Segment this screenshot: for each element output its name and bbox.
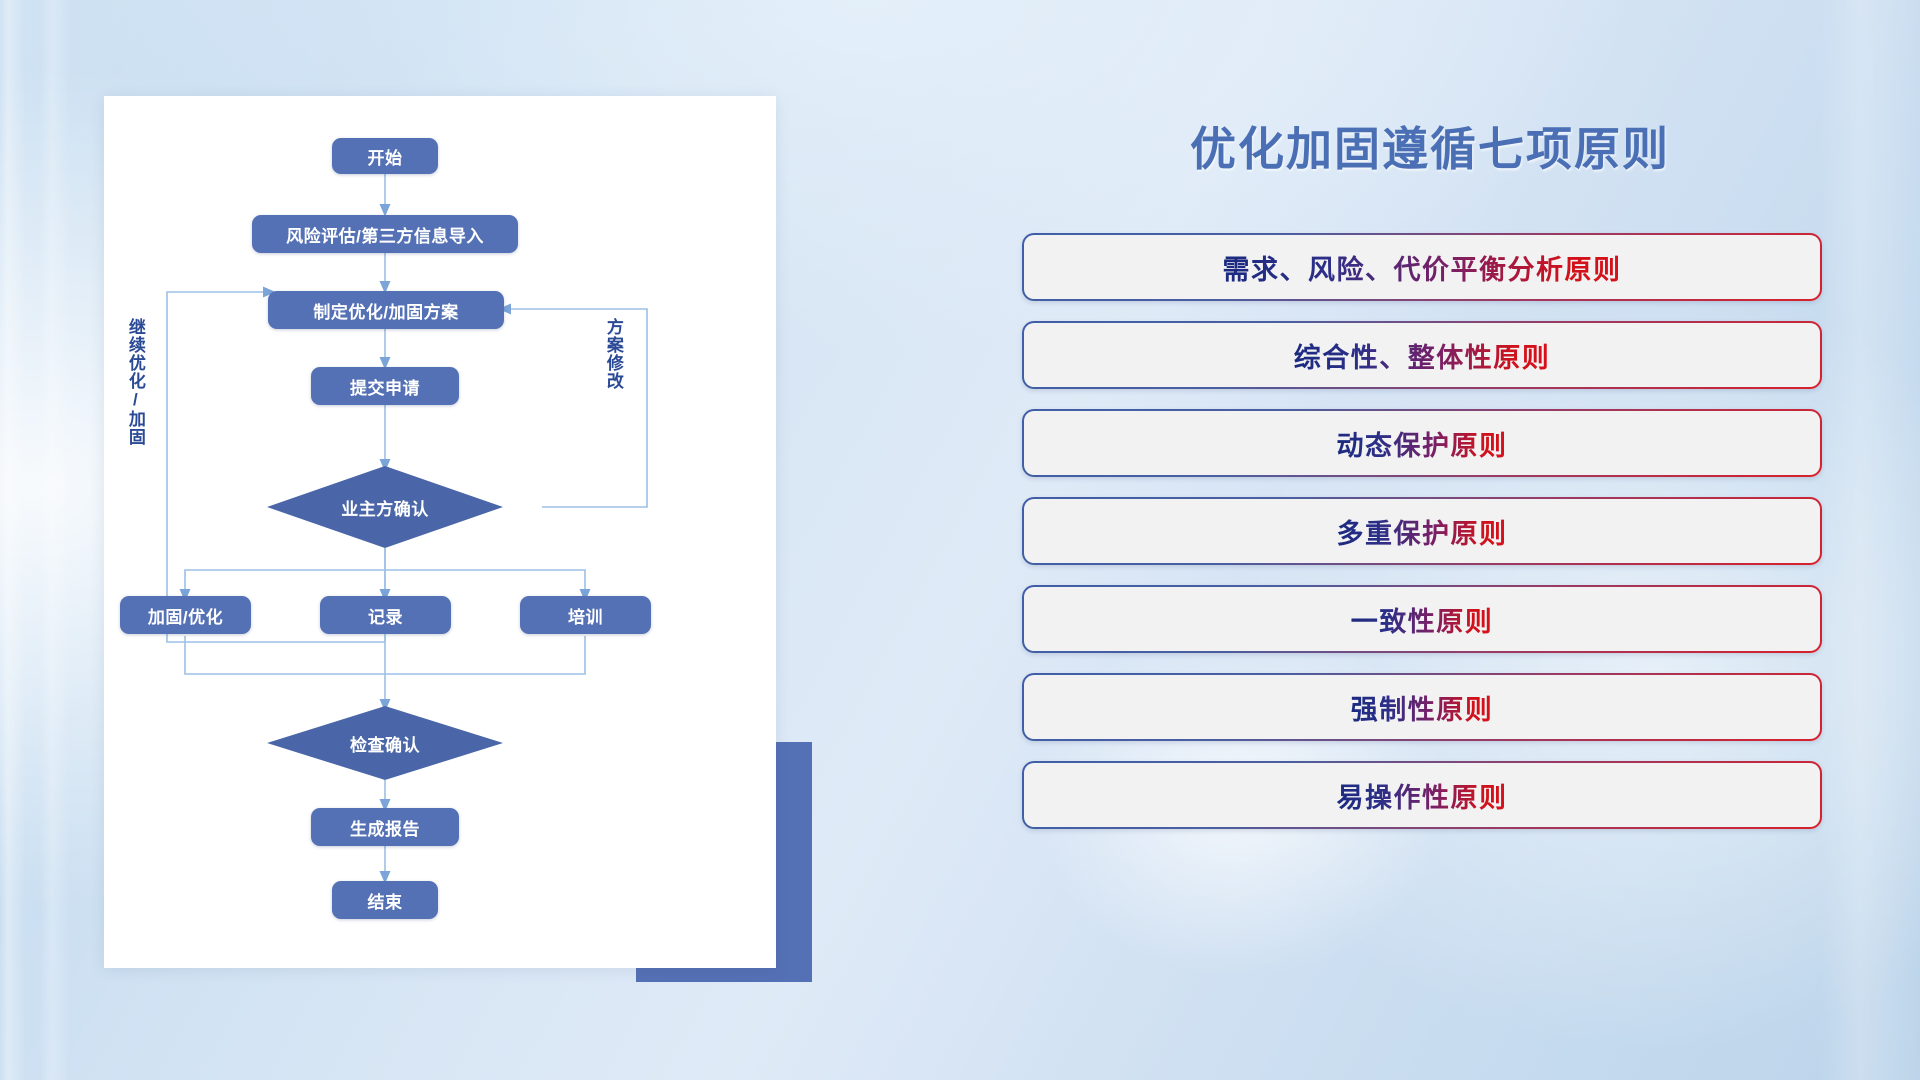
principle-pill-face: 综合性、整体性原则 [1024,323,1820,387]
principle-pill-border: 强制性原则 [1022,673,1822,741]
flow-node-plan-label: 制定优化/加固方案 [313,298,458,323]
principle-label-5: 一致性原则 [1351,600,1494,639]
flow-node-record[interactable]: 记录 [320,596,451,634]
flow-node-submit[interactable]: 提交申请 [311,367,459,405]
flow-node-check-confirm[interactable]: 检查确认 [267,706,503,780]
principle-item-4[interactable]: 多重保护原则 [1022,497,1822,565]
flow-node-start-label: 开始 [368,144,403,169]
flow-node-report-label: 生成报告 [350,815,420,840]
principle-item-2[interactable]: 综合性、整体性原则 [1022,321,1822,389]
principle-label-2: 综合性、整体性原则 [1294,336,1551,375]
principle-pill-border: 易操作性原则 [1022,761,1822,829]
principle-label-7: 易操作性原则 [1337,776,1508,815]
principle-pill-border: 需求、风险、代价平衡分析原则 [1022,233,1822,301]
flowchart-card: 开始 风险评估/第三方信息导入 制定优化/加固方案 提交申请 业主方确认 加固/… [104,96,776,968]
principle-item-7[interactable]: 易操作性原则 [1022,761,1822,829]
flow-node-report[interactable]: 生成报告 [311,808,459,846]
principle-pill-border: 综合性、整体性原则 [1022,321,1822,389]
principle-label-6: 强制性原则 [1351,688,1494,727]
principle-pill-border: 动态保护原则 [1022,409,1822,477]
principle-pill-face: 动态保护原则 [1024,411,1820,475]
principle-pill-face: 多重保护原则 [1024,499,1820,563]
flow-node-risk-assessment-label: 风险评估/第三方信息导入 [286,222,484,247]
loop-label-left: 继续优化/加固 [126,318,144,468]
flowchart-inner: 开始 风险评估/第三方信息导入 制定优化/加固方案 提交申请 业主方确认 加固/… [104,96,776,968]
flow-node-start[interactable]: 开始 [332,138,438,174]
flow-node-plan[interactable]: 制定优化/加固方案 [268,291,504,329]
flow-node-training[interactable]: 培训 [520,596,651,634]
principle-label-3: 动态保护原则 [1337,424,1508,463]
flow-node-owner-confirm-label: 业主方确认 [267,466,503,548]
flow-node-reinforce-label: 加固/优化 [148,603,223,628]
principle-label-4: 多重保护原则 [1337,512,1508,551]
principle-label-1: 需求、风险、代价平衡分析原则 [1223,248,1622,287]
principle-item-3[interactable]: 动态保护原则 [1022,409,1822,477]
flow-node-owner-confirm[interactable]: 业主方确认 [267,466,503,548]
page-title: 优化加固遵循七项原则 [1150,113,1710,179]
flow-node-end[interactable]: 结束 [332,881,438,919]
flow-node-check-confirm-label: 检查确认 [267,706,503,780]
principle-item-1[interactable]: 需求、风险、代价平衡分析原则 [1022,233,1822,301]
principle-pill-face: 易操作性原则 [1024,763,1820,827]
principle-item-6[interactable]: 强制性原则 [1022,673,1822,741]
principle-pill-face: 需求、风险、代价平衡分析原则 [1024,235,1820,299]
principle-pill-border: 一致性原则 [1022,585,1822,653]
flow-node-record-label: 记录 [368,603,403,628]
principle-item-5[interactable]: 一致性原则 [1022,585,1822,653]
flow-node-end-label: 结束 [368,888,403,913]
flow-node-reinforce[interactable]: 加固/优化 [120,596,251,634]
principle-pill-face: 一致性原则 [1024,587,1820,651]
principle-pill-face: 强制性原则 [1024,675,1820,739]
flow-node-training-label: 培训 [568,603,603,628]
loop-label-right: 方案修改 [604,318,622,428]
flow-node-submit-label: 提交申请 [350,374,420,399]
principles-list: 需求、风险、代价平衡分析原则 综合性、整体性原则 动态保护原则 多重保护原则 一… [1022,233,1822,849]
principle-pill-border: 多重保护原则 [1022,497,1822,565]
flow-node-risk-assessment[interactable]: 风险评估/第三方信息导入 [252,215,518,253]
